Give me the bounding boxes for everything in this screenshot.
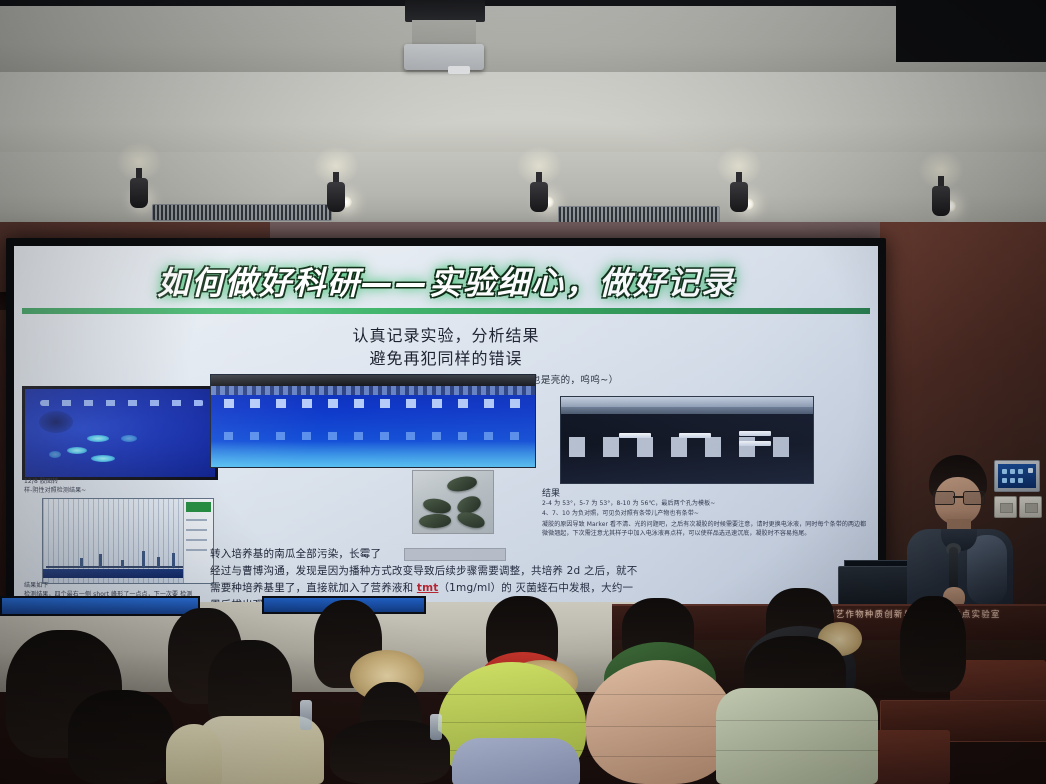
- projector-lens-icon: [448, 66, 470, 74]
- right-result-label: 结果: [542, 486, 560, 499]
- gel-image-center: [210, 374, 536, 468]
- ceiling-soffit-upper: [0, 6, 1046, 76]
- audience-member: [54, 690, 214, 784]
- slide-title: 如何做好科研——实验细心，做好记录: [14, 258, 878, 304]
- body-line-3: 需要种培养基里了，直接就加入了营养液和 tmt（1mg/ml）的 灭菌蛭石中发根…: [210, 580, 690, 597]
- ceiling-soffit-lower: [0, 72, 1046, 158]
- chart-label-line1: 结果如下: [24, 582, 48, 591]
- tmt-dose: （1mg/ml）: [438, 582, 501, 594]
- glasses-icon: [933, 491, 983, 503]
- seed-photo: [412, 470, 494, 534]
- control-panel-lcd: [998, 464, 1036, 488]
- light-switch[interactable]: [994, 496, 1017, 518]
- title-divider: [22, 308, 870, 314]
- body-line-1: 转入培养基的南瓜全部污染，长霉了: [210, 546, 510, 563]
- tmt-highlight: tmt: [417, 582, 439, 594]
- air-vent: [152, 204, 332, 221]
- audience-member: [880, 596, 986, 712]
- gel-image-left: [22, 386, 218, 480]
- body-line-3-pre: 需要种培养基里了，直接就加入了营养液和: [210, 582, 417, 594]
- lecture-hall-photo: 如何做好科研——实验细心，做好记录 认真记录实验，分析结果 避免再犯同样的错误 …: [0, 0, 1046, 784]
- gel-image-right: [560, 396, 814, 484]
- body-line-2: 经过与曹博沟通，发现是因为播种方式改变导致后续步骤需要调整，共培养 2d 之后，…: [210, 563, 670, 580]
- water-bottle: [300, 700, 312, 730]
- spotlight: [930, 176, 952, 220]
- slide-subtitle-line2: 避免再犯同样的错误: [14, 345, 878, 369]
- spotlight: [728, 172, 750, 216]
- analysis-chart-window: [42, 498, 214, 584]
- ceiling-projector: [404, 44, 484, 70]
- spotlight: [128, 168, 150, 212]
- spotlight: [325, 172, 347, 216]
- wall-control-panel[interactable]: [994, 460, 1040, 492]
- air-vent: [558, 206, 720, 223]
- projection-screen: 如何做好科研——实验细心，做好记录 认真记录实验，分析结果 避免再犯同样的错误 …: [14, 246, 878, 606]
- body-line-3-post: 的 灭菌蛭石中发根，大约一: [501, 582, 633, 594]
- right-note-1: 2-4 为 53°，5-7 为 53°，8-10 为 56℃，最后两个孔为模板~: [542, 500, 862, 509]
- projector-mount: [405, 0, 485, 22]
- gel-left-label-line1: 12/8 胶图转: [24, 478, 184, 487]
- audience-member: [452, 738, 582, 784]
- audience-member: [586, 660, 736, 784]
- water-bottle: [430, 714, 442, 740]
- light-switch[interactable]: [1019, 496, 1042, 518]
- gel-left-label-line2: 样-阴性对照检测结果~: [24, 487, 194, 496]
- right-note-2: 4、7、10 为负对照，可见负对照有条带儿产物也有条带~: [542, 510, 862, 519]
- audience-member: [716, 636, 880, 784]
- slide-subtitle-line1: 认真记录实验，分析结果: [14, 322, 878, 346]
- right-note-3: 凝胶的原因导致 Marker 看不清、光的问题吧，之后有次凝胶的时候需要注意，请…: [542, 521, 868, 538]
- ceiling-dark-corner: [896, 0, 1046, 62]
- spotlight: [528, 172, 550, 216]
